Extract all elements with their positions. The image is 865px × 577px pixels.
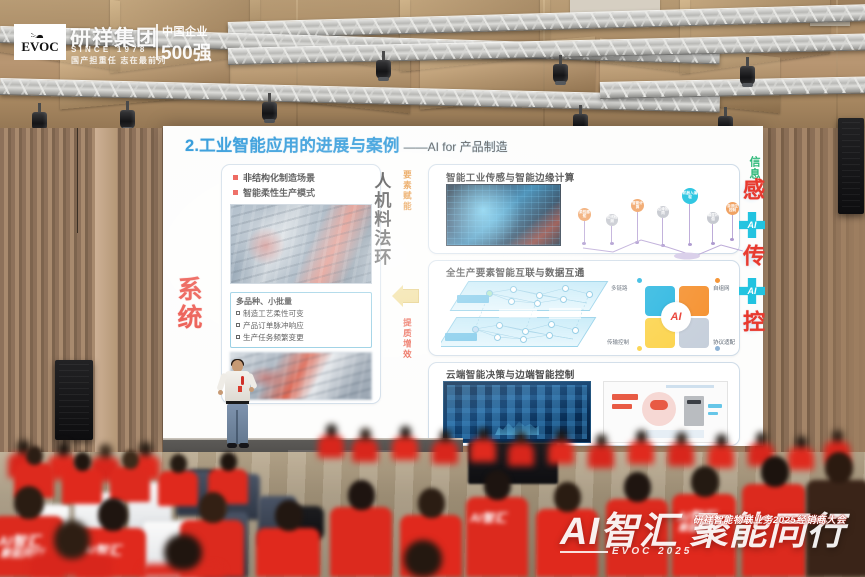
audience-member-front: [806, 452, 865, 577]
network-layers-diagram: [441, 279, 616, 351]
arrow-shaft: [403, 289, 419, 303]
bullet-square: [236, 323, 240, 327]
pin-head: 智能计算: [631, 199, 644, 212]
brand-rank-line1: 中国企业: [162, 23, 208, 39]
audience-member: [628, 430, 654, 464]
pin-head: 边缘协同: [657, 206, 669, 218]
audience-member: [668, 432, 694, 466]
slide-title: 2.工业智能应用的进展与案例——AI for 产品制造: [185, 132, 508, 156]
line-array-speaker-left: [55, 360, 93, 440]
shirt-logo-sub: 聚能同行: [678, 524, 718, 534]
puzzle-label-2: 传输控制: [607, 338, 629, 346]
audience-member-front: AI智汇 聚能同行: [672, 466, 736, 577]
audience-member: [352, 428, 378, 462]
header-bullet-square: [233, 175, 238, 180]
puzzle-label-1: 自组网: [713, 284, 730, 292]
brand-since: SINCE 1978: [71, 45, 147, 54]
right-char-kong: 控: [741, 310, 763, 335]
bullet-square: [236, 311, 240, 315]
industrial-robot-photo: [230, 204, 372, 284]
audience-member: [318, 424, 344, 458]
evoc-logo-mark: EVOC: [14, 24, 66, 60]
arrow-label-top: 要素赋能: [402, 170, 411, 212]
sensing-baseline: [575, 234, 755, 260]
stage-light-icon: [553, 62, 568, 86]
evoc-wordmark: EVOC: [21, 39, 58, 55]
audience-member-foreground: [380, 540, 464, 577]
pin-head: 精度补偿: [707, 212, 719, 224]
audience-member: [708, 434, 734, 468]
audience-member-foreground: [140, 534, 224, 577]
bullet-square: [236, 335, 240, 339]
stage-light-icon: [740, 64, 755, 88]
puzzle-label-0: 多链路: [611, 284, 628, 292]
presenter: [218, 360, 258, 450]
card-interconnect-title: 全生产要素智能互联与数据互通: [446, 265, 585, 279]
pin-head: 自适应控制: [726, 202, 739, 215]
left-vertical-label: 系统: [175, 276, 200, 332]
pin-head: 在线检测: [606, 214, 618, 226]
pin-head: 柔性感知: [578, 208, 591, 221]
line-array-speaker-right: [838, 118, 864, 214]
bullet-item-2: 生产任务频繁变更: [243, 332, 304, 343]
left-header-1: 智能柔性生产模式: [243, 186, 315, 199]
audience-member-front: [256, 500, 320, 577]
right-top-label: 信息: [746, 156, 762, 180]
ai-puzzle-diagram: AI 多链路 自组网 传输控制 协议适配: [623, 276, 735, 352]
sunburst-icon: [32, 30, 48, 38]
audience-member: [392, 426, 418, 460]
audience-member: [588, 434, 614, 468]
stage-light-icon: [262, 100, 277, 124]
audience-member-foreground: [30, 520, 112, 577]
audience-member: [548, 430, 574, 464]
brand-divider: [156, 24, 158, 60]
pin-head: 机器人编程: [682, 188, 698, 204]
audience-member: [110, 450, 150, 502]
shirt-logo: AI智汇: [677, 510, 716, 523]
presenter-badge: [238, 386, 242, 392]
puzzle-center-ai: AI: [661, 302, 691, 332]
card-cloud-edge-title: 云端智能决策与边端智能控制: [446, 367, 575, 381]
microphone-icon: [241, 376, 244, 385]
bullets-title: 多品种、小批量: [236, 296, 292, 307]
ai-chip-photo: [446, 184, 561, 246]
conference-photo-scene: 2.工业智能应用的进展与案例——AI for 产品制造 系统 非结构化制造场景 …: [0, 0, 865, 577]
card-sensing-title: 智能工业传感与智能边缘计算: [446, 170, 575, 184]
plus-ai-badge-icon: AI: [739, 278, 765, 304]
header-bullet-square: [233, 190, 238, 195]
audience-member: [432, 430, 458, 464]
audience-member-front: [536, 482, 598, 577]
brand-rank-line2: 500强: [161, 38, 212, 65]
shirt-logo: AI智汇: [470, 512, 506, 524]
arrow-label-bottom: 提质增效: [402, 318, 411, 360]
presenter-jeans: [227, 404, 248, 444]
stage-light-icon: [376, 58, 391, 82]
brand-logo: EVOC 研祥集团 SINCE 1978 国产担重任 志在最前列 中国企业 50…: [14, 14, 200, 60]
audience-member: [470, 428, 496, 462]
arrow-head-icon: [392, 285, 403, 307]
right-char-gan: 感: [741, 178, 763, 203]
brand-slogan: 国产担重任 志在最前列: [71, 55, 166, 66]
right-char-chuan: 传: [741, 244, 763, 269]
audience-member-front: [606, 472, 668, 577]
audience-member-front: [742, 456, 806, 577]
audience-member: [508, 432, 534, 466]
audience-member-front: AI智汇: [466, 470, 528, 577]
bullet-item-1: 产品订单脉冲响应: [243, 320, 304, 331]
audience-member: [62, 452, 102, 504]
bullet-item-0: 制造工艺柔性可变: [243, 308, 304, 319]
puzzle-label-3: 协议适配: [713, 338, 735, 346]
left-header-0: 非结构化制造场景: [243, 171, 315, 184]
center-vertical-label: 人机料法环: [372, 172, 389, 267]
